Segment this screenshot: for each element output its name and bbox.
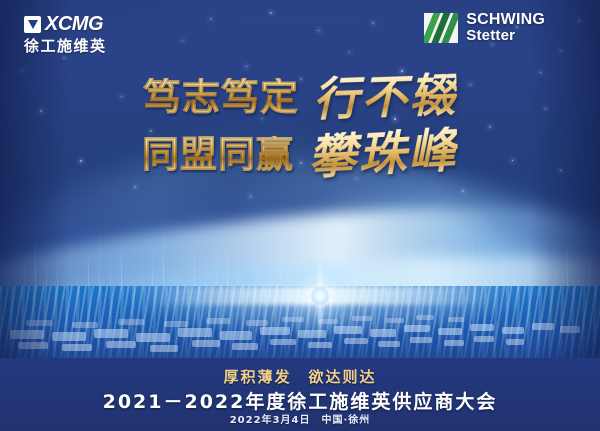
headline-line2-brush: 攀珠峰	[307, 126, 459, 182]
headline-line2-block: 同盟同赢	[142, 136, 294, 173]
footer-event-title: 2021－2022年度徐工施维英供应商大会	[0, 387, 600, 414]
schwing-wordmark: SCHWING	[466, 12, 545, 28]
xcmg-triangle-mark-icon	[24, 16, 41, 33]
headline-group: 笃志笃定 行不辍 同盟同赢 攀珠峰	[0, 74, 600, 178]
schwing-stetter-logo: SCHWING Stetter	[424, 12, 545, 44]
headline-line1-brush: 行不辍	[312, 72, 458, 123]
poster-backdrop: XCMG 徐工施维英 SCHWING Stetter 笃志笃定 行不辍 同盟同赢…	[0, 0, 600, 431]
schwing-stripes-icon	[424, 13, 458, 43]
xcmg-wordmark: XCMG	[45, 14, 103, 34]
footer-slogan: 厚积薄发 欲达则达	[0, 366, 600, 387]
xcmg-chinese-name: 徐工施维英	[24, 39, 107, 54]
footer-date-location: 2022年3月4日 中国·徐州	[0, 411, 600, 426]
stetter-wordmark: Stetter	[466, 28, 545, 43]
headline-line1-block: 笃志笃定	[143, 78, 299, 116]
xcmg-logo: XCMG 徐工施维英	[24, 14, 107, 54]
